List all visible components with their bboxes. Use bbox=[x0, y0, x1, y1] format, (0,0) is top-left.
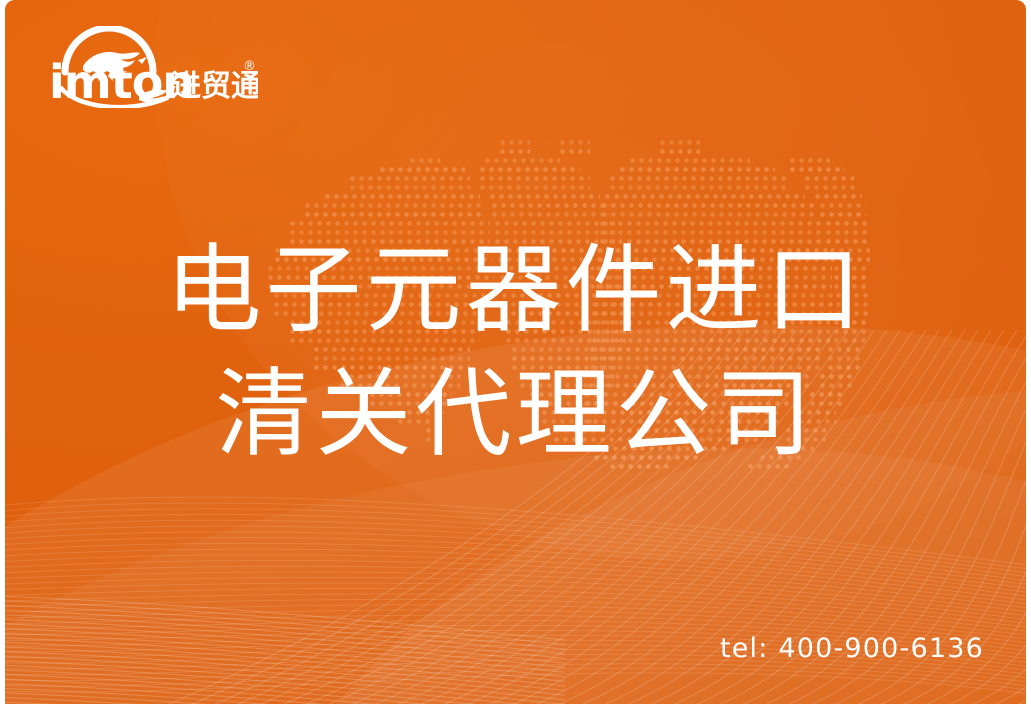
map-dot-row bbox=[602, 203, 815, 208]
map-dot-row bbox=[790, 158, 830, 163]
map-dot-row bbox=[805, 185, 855, 190]
orange-card: imton 进贸通 ® 电子元器件进口 清关代理公司 tel: 400-900-… bbox=[5, 0, 1026, 704]
map-dot-row bbox=[305, 212, 485, 217]
page-title: 电子元器件进口 清关代理公司 bbox=[5, 228, 1026, 476]
map-dot-row bbox=[560, 140, 590, 145]
map-dot-row bbox=[820, 212, 866, 217]
map-dot-row bbox=[325, 194, 480, 199]
map-dot-row bbox=[305, 203, 485, 208]
map-dot-row bbox=[560, 149, 590, 154]
registered-trademark-icon: ® bbox=[243, 59, 256, 74]
map-dot-row bbox=[602, 212, 815, 217]
map-dot-row bbox=[380, 167, 465, 172]
contact-phone[interactable]: tel: 400-900-6136 bbox=[720, 633, 984, 664]
map-dot-row bbox=[660, 140, 700, 145]
map-dot-row bbox=[805, 176, 855, 181]
map-dot-row bbox=[350, 176, 470, 181]
map-dot-row bbox=[500, 149, 530, 154]
map-dot-row bbox=[492, 212, 610, 217]
map-dot-row bbox=[610, 176, 790, 181]
map-dot-row bbox=[490, 194, 600, 199]
map-dot-row bbox=[480, 167, 580, 172]
map-dot-row bbox=[480, 185, 590, 190]
map-dot-row bbox=[620, 167, 775, 172]
map-dot-row bbox=[605, 194, 805, 199]
map-dot-row bbox=[815, 194, 862, 199]
map-dot-row bbox=[820, 203, 866, 208]
map-dot-row bbox=[485, 158, 560, 163]
map-dot-row bbox=[500, 140, 530, 145]
banner-canvas: imton 进贸通 ® 电子元器件进口 清关代理公司 tel: 400-900-… bbox=[0, 0, 1031, 704]
headline-line-2: 清关代理公司 bbox=[5, 352, 1026, 476]
map-dot-row bbox=[495, 221, 615, 226]
map-dot-row bbox=[826, 221, 868, 226]
headline-line-1: 电子元器件进口 bbox=[5, 228, 1026, 352]
map-dot-row bbox=[492, 203, 610, 208]
map-dot-row bbox=[350, 185, 470, 190]
logo-cn-text: 进贸通 bbox=[171, 69, 258, 104]
map-dot-row bbox=[600, 221, 822, 226]
map-dot-row bbox=[630, 158, 750, 163]
map-dot-row bbox=[660, 149, 700, 154]
brand-logo[interactable]: imton 进贸通 ® bbox=[43, 26, 258, 108]
map-dot-row bbox=[610, 185, 790, 190]
map-dot-row bbox=[480, 176, 590, 181]
map-dot-row bbox=[290, 221, 490, 226]
map-dot-row bbox=[790, 167, 845, 172]
map-dot-row bbox=[410, 158, 440, 163]
